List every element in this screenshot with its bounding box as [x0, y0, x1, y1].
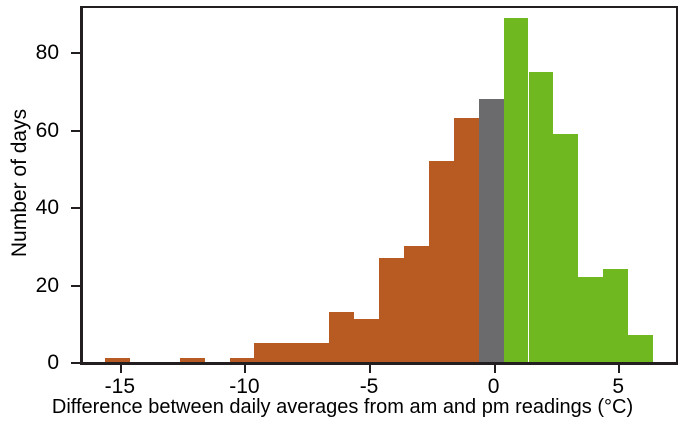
y-axis-tick-label: 80	[36, 41, 59, 65]
histogram-bar	[429, 161, 454, 362]
x-axis-line	[80, 362, 678, 365]
histogram-bar	[529, 72, 554, 362]
histogram-bar	[304, 343, 329, 362]
histogram-bar	[603, 269, 628, 362]
y-axis-tick-label: 0	[47, 351, 59, 375]
y-axis-tick-label: 20	[36, 274, 59, 298]
x-axis-tick	[369, 365, 371, 373]
y-axis-title: Number of days	[6, 0, 34, 366]
histogram-bar	[404, 246, 429, 362]
y-axis-tick: 20	[71, 285, 80, 287]
plot-frame-top	[80, 6, 678, 8]
histogram-bar	[329, 312, 354, 362]
y-axis-tick: 60	[71, 130, 80, 132]
histogram-bar	[379, 258, 404, 362]
plot-frame-right	[676, 6, 678, 365]
histogram-bar	[230, 358, 255, 362]
y-axis-tick-label: 40	[36, 196, 59, 220]
x-axis-tick	[618, 365, 620, 373]
histogram-bar	[354, 319, 379, 362]
x-axis-tick	[494, 365, 496, 373]
histogram-bar	[105, 358, 130, 362]
histogram-bar	[628, 335, 653, 362]
y-axis-line	[80, 6, 83, 365]
y-axis-tick: 0	[71, 362, 80, 364]
y-axis-tick: 40	[71, 207, 80, 209]
x-axis-title: Difference between daily averages from a…	[0, 396, 685, 419]
x-axis-tick	[120, 365, 122, 373]
x-axis-tick	[244, 365, 246, 373]
y-axis-tick-label: 60	[36, 119, 59, 143]
histogram-figure: Number of days 020406080 -15-10-505 Diff…	[0, 0, 685, 428]
histogram-bar	[504, 18, 529, 362]
histogram-bar	[279, 343, 304, 362]
y-axis-tick: 80	[71, 52, 80, 54]
histogram-bar	[254, 343, 279, 362]
histogram-bar	[454, 118, 479, 362]
histogram-bar	[479, 99, 504, 362]
histogram-bar	[553, 134, 578, 362]
histogram-bar	[180, 358, 205, 362]
histogram-bar	[578, 277, 603, 362]
plot-area: 020406080 -15-10-505	[80, 6, 678, 365]
